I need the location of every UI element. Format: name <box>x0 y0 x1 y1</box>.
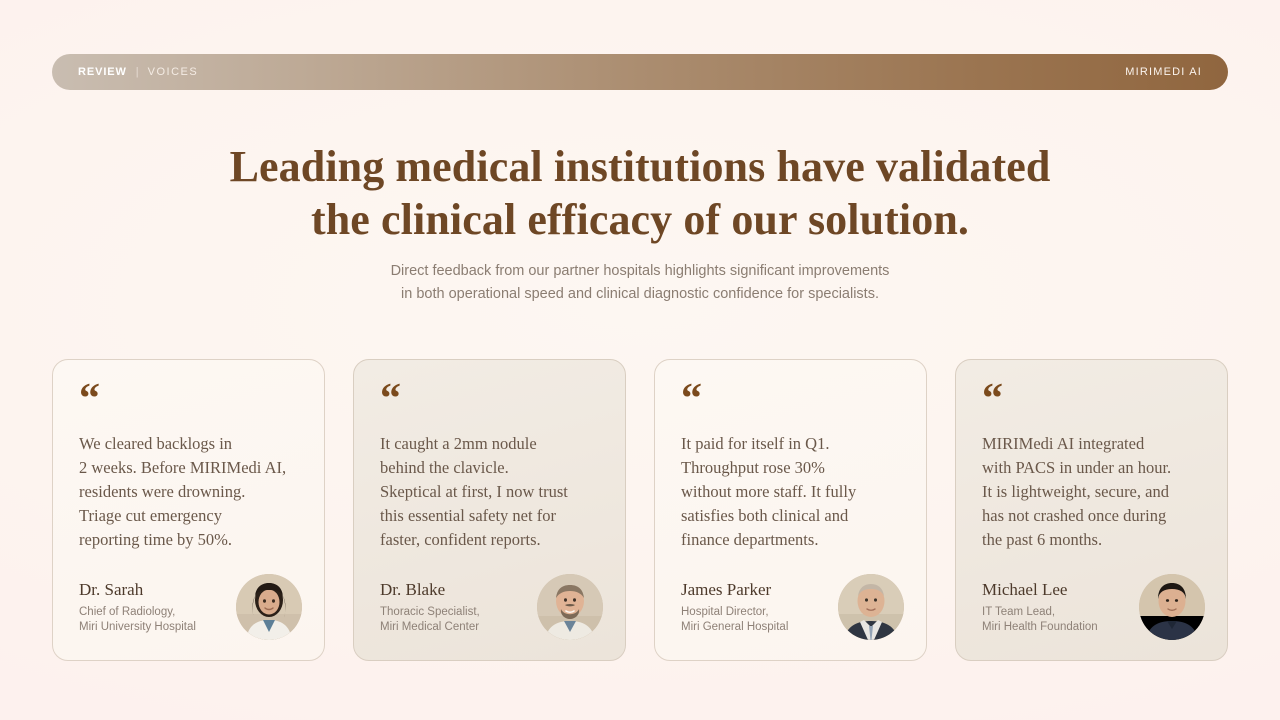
header-breadcrumb: REVIEW | VOICES <box>78 66 198 78</box>
testimonial-quote: We cleared backlogs in 2 weeks. Before M… <box>79 432 302 574</box>
review-header-bar: REVIEW | VOICES MIRIMEDI AI <box>52 54 1228 90</box>
page-title-line-1: Leading medical institutions have valida… <box>0 140 1280 193</box>
author-meta: Michael Lee IT Team Lead, Miri Health Fo… <box>982 579 1098 636</box>
author-role-line: Miri General Hospital <box>681 620 788 636</box>
page-subtitle-line-2: in both operational speed and clinical d… <box>0 283 1280 306</box>
quote-open-icon: “ <box>380 386 603 416</box>
testimonial-author: Dr. Blake Thoracic Specialist, Miri Medi… <box>380 574 603 640</box>
testimonial-quote: MIRIMedi AI integrated with PACS in unde… <box>982 432 1205 574</box>
avatar-dr-blake <box>537 574 603 640</box>
quote-line: It caught a 2mm nodule <box>380 432 603 456</box>
avatar-dr-sarah <box>236 574 302 640</box>
author-role-line: Hospital Director, <box>681 605 788 621</box>
page-subtitle-line-1: Direct feedback from our partner hospita… <box>0 260 1280 283</box>
quote-line: faster, confident reports. <box>380 528 603 552</box>
testimonial-card[interactable]: “ It paid for itself in Q1. Throughput r… <box>654 359 927 661</box>
quote-line: We cleared backlogs in <box>79 432 302 456</box>
quote-line: this essential safety net for <box>380 504 603 528</box>
header-label-voices: VOICES <box>148 66 199 78</box>
testimonial-card-list: “ We cleared backlogs in 2 weeks. Before… <box>52 359 1228 661</box>
author-name: James Parker <box>681 579 788 601</box>
testimonial-quote: It caught a 2mm nodule behind the clavic… <box>380 432 603 574</box>
quote-line: It is lightweight, secure, and <box>982 480 1205 504</box>
author-name: Dr. Blake <box>380 579 480 601</box>
author-role-line: Miri Medical Center <box>380 620 480 636</box>
quote-line: residents were drowning. <box>79 480 302 504</box>
author-name: Dr. Sarah <box>79 579 196 601</box>
quote-line: with PACS in under an hour. <box>982 456 1205 480</box>
page-subtitle: Direct feedback from our partner hospita… <box>0 260 1280 306</box>
page-title: Leading medical institutions have valida… <box>0 140 1280 246</box>
quote-line: finance departments. <box>681 528 904 552</box>
author-name: Michael Lee <box>982 579 1098 601</box>
author-meta: James Parker Hospital Director, Miri Gen… <box>681 579 788 636</box>
header-brand-label: MIRIMEDI AI <box>1125 66 1202 78</box>
quote-line: the past 6 months. <box>982 528 1205 552</box>
quote-line: Throughput rose 30% <box>681 456 904 480</box>
quote-open-icon: “ <box>982 386 1205 416</box>
quote-line: reporting time by 50%. <box>79 528 302 552</box>
testimonial-card[interactable]: “ We cleared backlogs in 2 weeks. Before… <box>52 359 325 661</box>
testimonial-author: Dr. Sarah Chief of Radiology, Miri Unive… <box>79 574 302 640</box>
quote-line: Triage cut emergency <box>79 504 302 528</box>
quote-line: satisfies both clinical and <box>681 504 904 528</box>
avatar-james-parker <box>838 574 904 640</box>
quote-open-icon: “ <box>681 386 904 416</box>
author-role: Thoracic Specialist, Miri Medical Center <box>380 605 480 636</box>
author-role: Chief of Radiology, Miri University Hosp… <box>79 605 196 636</box>
author-meta: Dr. Blake Thoracic Specialist, Miri Medi… <box>380 579 480 636</box>
author-role-line: Miri Health Foundation <box>982 620 1098 636</box>
author-meta: Dr. Sarah Chief of Radiology, Miri Unive… <box>79 579 196 636</box>
quote-line: MIRIMedi AI integrated <box>982 432 1205 456</box>
header-separator: | <box>136 66 139 78</box>
avatar-michael-lee <box>1139 574 1205 640</box>
page-title-line-2: the clinical efficacy of our solution. <box>0 193 1280 246</box>
quote-line: behind the clavicle. <box>380 456 603 480</box>
testimonial-card[interactable]: “ It caught a 2mm nodule behind the clav… <box>353 359 626 661</box>
quote-open-icon: “ <box>79 386 302 416</box>
testimonial-quote: It paid for itself in Q1. Throughput ros… <box>681 432 904 574</box>
testimonial-author: Michael Lee IT Team Lead, Miri Health Fo… <box>982 574 1205 640</box>
quote-line: without more staff. It fully <box>681 480 904 504</box>
author-role-line: Miri University Hospital <box>79 620 196 636</box>
testimonial-card[interactable]: “ MIRIMedi AI integrated with PACS in un… <box>955 359 1228 661</box>
quote-line: 2 weeks. Before MIRIMedi AI, <box>79 456 302 480</box>
quote-line: Skeptical at first, I now trust <box>380 480 603 504</box>
author-role: IT Team Lead, Miri Health Foundation <box>982 605 1098 636</box>
header-label-review: REVIEW <box>78 66 127 78</box>
author-role-line: IT Team Lead, <box>982 605 1098 621</box>
quote-line: It paid for itself in Q1. <box>681 432 904 456</box>
author-role-line: Thoracic Specialist, <box>380 605 480 621</box>
author-role-line: Chief of Radiology, <box>79 605 196 621</box>
author-role: Hospital Director, Miri General Hospital <box>681 605 788 636</box>
quote-line: has not crashed once during <box>982 504 1205 528</box>
testimonial-author: James Parker Hospital Director, Miri Gen… <box>681 574 904 640</box>
